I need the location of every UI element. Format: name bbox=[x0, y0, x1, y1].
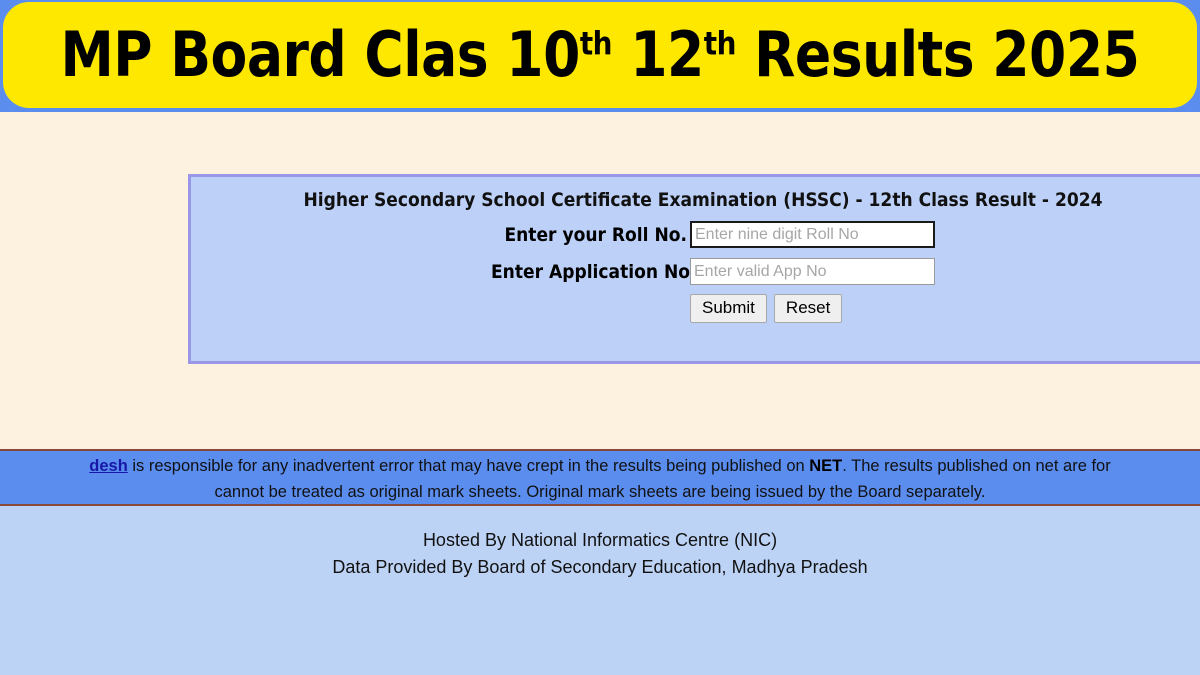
results-banner: MP Board Clas 10th 12th Results 2025 bbox=[3, 2, 1197, 108]
roll-number-row: Enter your Roll No. bbox=[191, 221, 1200, 248]
banner-title-part2: 12 bbox=[612, 18, 704, 91]
disclaimer-notice-bar: desh is responsible for any inadvertent … bbox=[0, 449, 1200, 506]
submit-button[interactable]: Submit bbox=[690, 294, 767, 323]
reset-button[interactable]: Reset bbox=[774, 294, 842, 323]
banner-title: MP Board Clas 10th 12th Results 2025 bbox=[61, 24, 1140, 86]
banner-title-part3: Results 2025 bbox=[736, 18, 1139, 91]
form-button-row: Submit Reset bbox=[191, 294, 1200, 323]
notice-text-before: is responsible for any inadvertent error… bbox=[128, 457, 809, 475]
banner-ordinal-10: th bbox=[580, 24, 612, 62]
roll-number-input[interactable] bbox=[690, 221, 935, 248]
notice-text-after: . The results published on net are for bbox=[842, 457, 1110, 475]
result-form-box: Higher Secondary School Certificate Exam… bbox=[188, 174, 1200, 364]
page-body: Higher Secondary School Certificate Exam… bbox=[0, 112, 1200, 449]
application-number-input[interactable] bbox=[690, 258, 935, 285]
notice-board-link[interactable]: desh bbox=[89, 457, 128, 475]
footer-hosted-by: Hosted By National Informatics Centre (N… bbox=[0, 527, 1200, 554]
banner-strip: MP Board Clas 10th 12th Results 2025 bbox=[0, 0, 1200, 112]
notice-line-two: cannot be treated as original mark sheet… bbox=[0, 479, 1200, 505]
banner-title-part1: MP Board Clas 10 bbox=[61, 18, 580, 91]
notice-net-emphasis: NET bbox=[809, 457, 842, 475]
application-number-label: Enter Application No. bbox=[491, 261, 687, 283]
result-form-heading: Higher Secondary School Certificate Exam… bbox=[191, 189, 1200, 211]
roll-number-label: Enter your Roll No. bbox=[491, 224, 687, 246]
application-number-row: Enter Application No. bbox=[191, 258, 1200, 285]
page-footer: Hosted By National Informatics Centre (N… bbox=[0, 506, 1200, 675]
banner-ordinal-12: th bbox=[704, 24, 736, 62]
disclaimer-notice-text: desh is responsible for any inadvertent … bbox=[0, 453, 1200, 505]
footer-data-provided-by: Data Provided By Board of Secondary Educ… bbox=[0, 554, 1200, 581]
